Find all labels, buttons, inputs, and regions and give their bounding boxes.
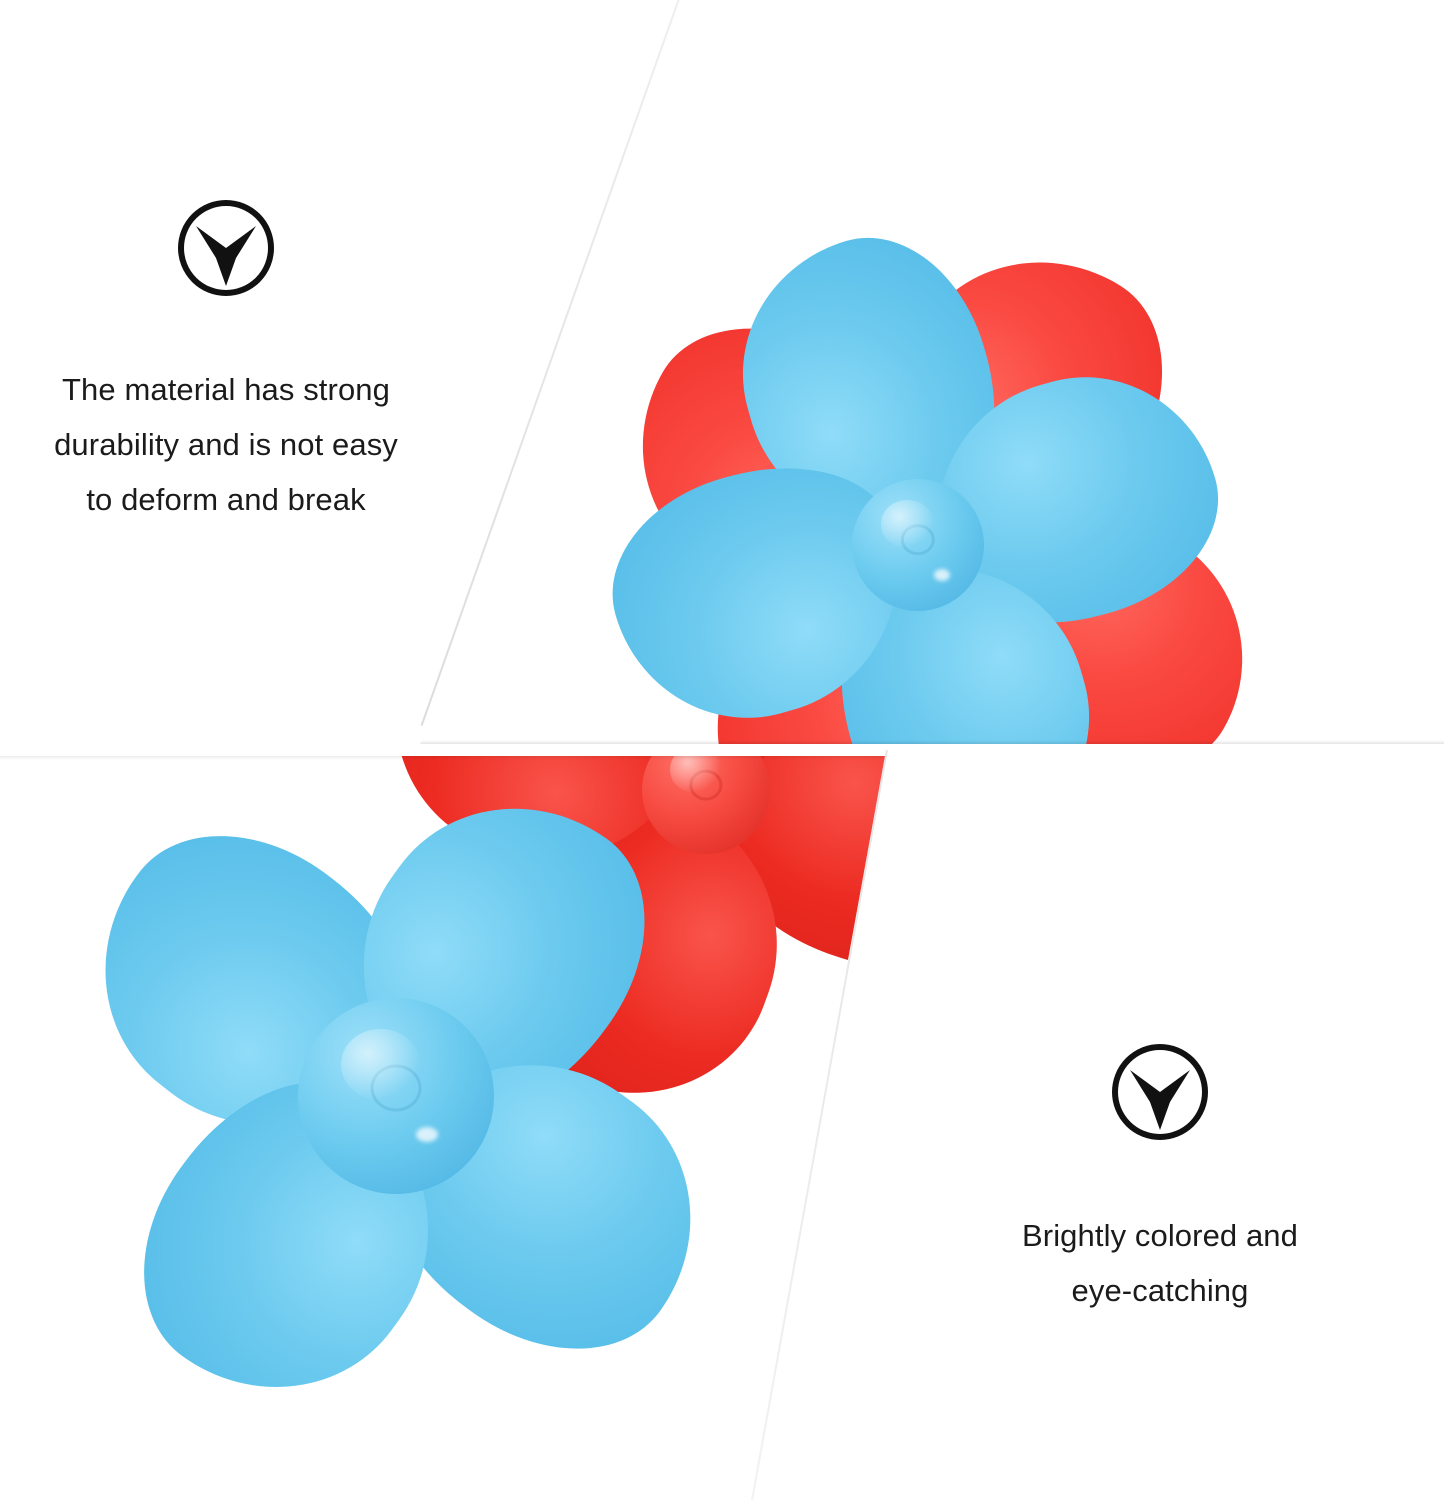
fan-hub-ring bbox=[901, 524, 935, 556]
fan-hub-blue bbox=[298, 998, 494, 1194]
fan-hub-ring bbox=[689, 770, 722, 801]
panel-edge-shadow bbox=[0, 756, 1444, 760]
feature-block-durability: The material has strong durability and i… bbox=[0, 196, 452, 528]
feature-caption: Brightly colored and eye-catching bbox=[960, 1208, 1360, 1318]
fan-hub-ring bbox=[371, 1065, 422, 1112]
chevron-down-circle-icon bbox=[1108, 1040, 1212, 1144]
chevron-down-circle-icon bbox=[174, 196, 278, 300]
feature-block-bright-color: Brightly colored and eye-catching bbox=[960, 1040, 1360, 1318]
hub-highlight bbox=[934, 569, 950, 581]
hub-highlight bbox=[416, 1127, 438, 1142]
panel-edge-shadow bbox=[0, 740, 1444, 744]
feature-caption: The material has strong durability and i… bbox=[0, 362, 452, 528]
infographic-canvas: The material has strong durability and i… bbox=[0, 0, 1444, 1500]
fan-hub-blue bbox=[852, 479, 984, 611]
